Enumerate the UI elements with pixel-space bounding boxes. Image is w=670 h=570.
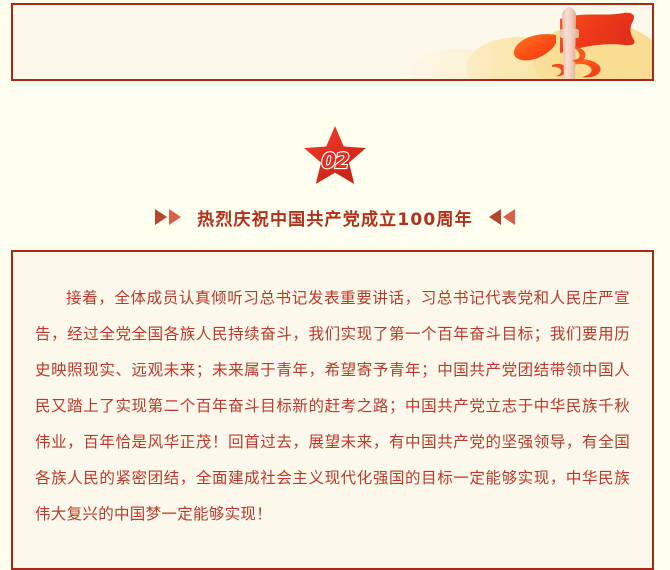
page-title: 热烈庆祝中国共产党成立100周年 [197,205,473,230]
article-page: 02 热烈庆祝中国共产党成立100周年 接着，全体成员认真倾听习总书记发表重要讲… [0,0,670,558]
content-panel: 接着，全体成员认真倾听习总书记发表重要讲话，习总书记代表党和人民庄严宣告，经过全… [11,250,654,570]
red-flag-icon [500,7,640,81]
double-triangle-left-icon [486,208,516,226]
double-triangle-right-icon [154,208,184,226]
section-number-marker: 02 [0,124,670,186]
article-paragraph: 接着，全体成员认真倾听习总书记发表重要讲话，习总书记代表党和人民庄严宣告，经过全… [35,280,630,532]
content-body: 接着，全体成员认真倾听习总书记发表重要讲话，习总书记代表党和人民庄严宣告，经过全… [13,252,652,532]
banner-panel [11,3,654,81]
red-star-icon: 02 [304,125,366,185]
section-title-row: 热烈庆祝中国共产党成立100周年 [0,202,670,232]
section-number: 02 [304,149,366,173]
